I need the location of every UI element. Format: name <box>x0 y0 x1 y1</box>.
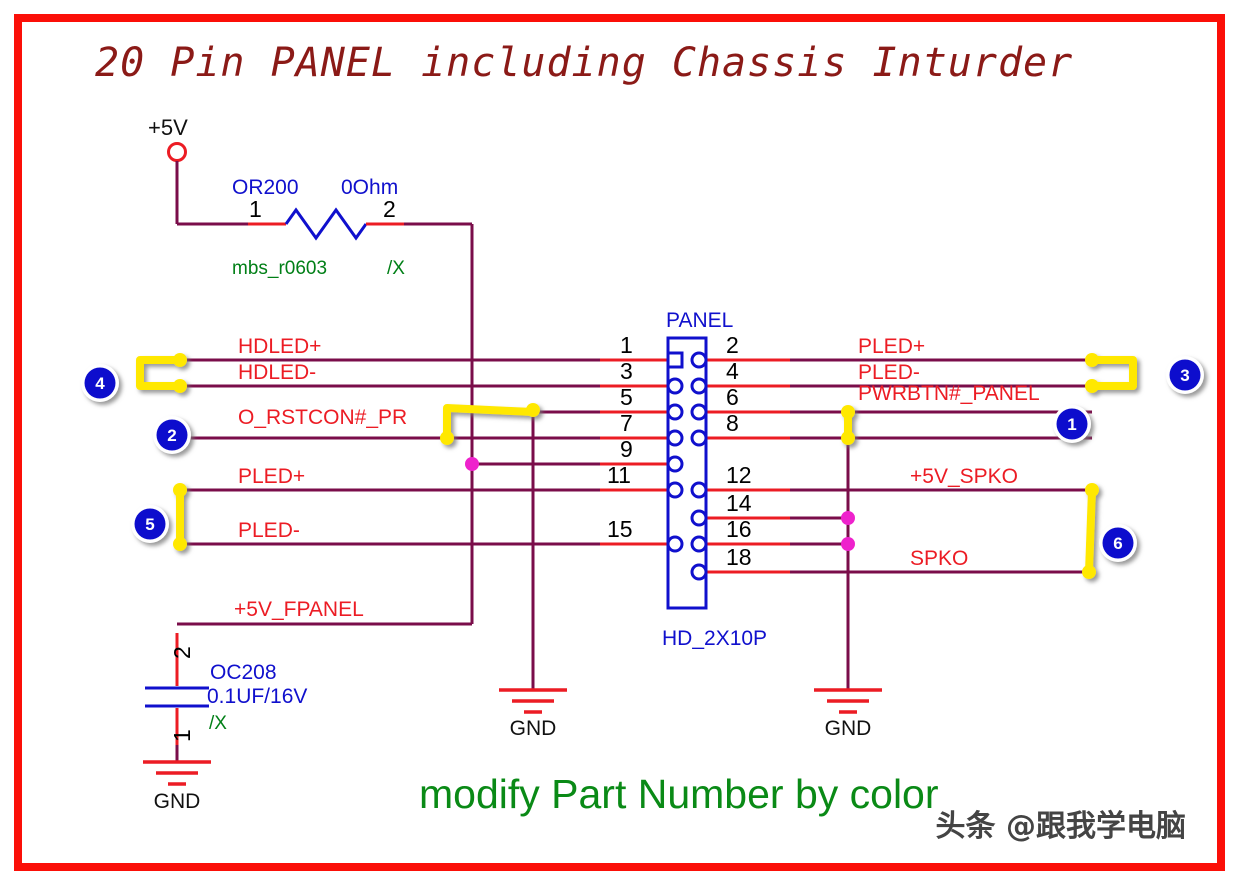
junction-dot-pin14 <box>841 511 855 525</box>
net-label-pled-plus-right: PLED+ <box>858 335 925 358</box>
marker-badge-4[interactable]: 4 <box>81 364 119 402</box>
highlight-dot-5a <box>173 483 187 497</box>
net-label-5v-spko: +5V_SPKO <box>910 465 1018 488</box>
highlight-bracket-3 <box>1085 353 1133 393</box>
junction-dot-pin9 <box>465 457 479 471</box>
marker-label-3: 3 <box>1180 366 1189 385</box>
capacitor-value: 0.1UF/16V <box>207 685 307 708</box>
resistor-designator: OR200 <box>232 176 299 199</box>
highlight-dot-1b <box>841 431 855 445</box>
gnd-cap-label: GND <box>154 790 201 813</box>
marker-badge-3[interactable]: 3 <box>1166 356 1204 394</box>
highlight-bracket-1 <box>841 405 855 445</box>
highlight-dot-6b <box>1082 565 1096 579</box>
net-label-pled-minus-left: PLED- <box>238 519 300 542</box>
connector-pinnum-5: 5 <box>620 384 633 410</box>
resistor-pin2-number: 2 <box>383 196 396 222</box>
highlight-bracket-4 <box>140 353 187 393</box>
marker-label-5: 5 <box>145 515 154 534</box>
highlight-dot-4a <box>173 353 187 367</box>
highlight-path-2 <box>447 408 533 438</box>
connector-pad-16 <box>692 537 706 551</box>
marker-label-6: 6 <box>1113 534 1122 553</box>
connector-pinnum-15: 15 <box>607 516 633 542</box>
connector-pinnum-9: 9 <box>620 436 633 462</box>
connector-pinnum-16: 16 <box>726 516 752 542</box>
connector-pad-11 <box>668 483 682 497</box>
marker-badge-2[interactable]: 2 <box>153 416 191 454</box>
connector-pad-6 <box>692 405 706 419</box>
resistor-variant: /X <box>387 258 405 279</box>
highlight-dot-1a <box>841 405 855 419</box>
net-label-pled-minus-right: PLED- <box>858 361 920 384</box>
highlight-dot-5b <box>173 537 187 551</box>
capacitor-pin2-number: 2 <box>169 646 195 659</box>
gnd-right-label: GND <box>825 717 872 740</box>
junction-dot-pin16 <box>841 537 855 551</box>
highlight-bracket-5 <box>173 483 187 551</box>
highlight-path-4 <box>140 360 180 386</box>
capacitor-pin1-number: 1 <box>169 729 195 742</box>
connector-pad-9 <box>668 457 682 471</box>
highlight-dot-6a <box>1085 483 1099 497</box>
highlight-dot-4b <box>173 379 187 393</box>
connector-pad-5 <box>668 405 682 419</box>
sheet-title: 20 Pin PANEL including Chassis Inturder <box>95 40 1073 86</box>
marker-label-4: 4 <box>95 374 105 393</box>
highlight-path-3 <box>1092 360 1133 386</box>
connector-pad-12 <box>692 483 706 497</box>
connector-designator: PANEL <box>666 309 733 332</box>
connector-pinnum-18: 18 <box>726 544 752 570</box>
connector-pinnum-3: 3 <box>620 358 633 384</box>
net-label-hdled-plus: HDLED+ <box>238 335 321 358</box>
connector-footprint: HD_2X10P <box>662 627 767 650</box>
connector-pad-15 <box>668 537 682 551</box>
connector-pinnum-12: 12 <box>726 462 752 488</box>
highlight-bracket-6 <box>1082 483 1099 579</box>
gnd-center-label: GND <box>510 717 557 740</box>
marker-badge-1[interactable]: 1 <box>1053 405 1091 443</box>
connector-pinnum-8: 8 <box>726 410 739 436</box>
connector-pinnum-14: 14 <box>726 490 752 516</box>
power-port-icon <box>169 144 186 161</box>
schematic-canvas: 20 Pin PANEL including Chassis Inturder … <box>0 0 1239 885</box>
connector-pad-3 <box>668 379 682 393</box>
highlight-dot-3b <box>1085 379 1099 393</box>
net-label-rstcon: O_RSTCON#_PR <box>238 406 407 429</box>
sheet-note: modify Part Number by color <box>419 771 939 817</box>
resistor-footprint: mbs_r0603 <box>232 258 327 279</box>
connector-pinnum-11: 11 <box>607 462 631 488</box>
marker-badge-6[interactable]: 6 <box>1099 524 1137 562</box>
connector-pinnum-1: 1 <box>620 332 633 358</box>
highlight-dot-2a <box>440 431 454 445</box>
resistor-pin1-number: 1 <box>249 196 262 222</box>
connector-pad-2 <box>692 353 706 367</box>
highlight-dot-2b <box>526 403 540 417</box>
marker-label-2: 2 <box>167 426 176 445</box>
connector-pad-18 <box>692 565 706 579</box>
net-label-hdled-minus: HDLED- <box>238 361 316 384</box>
marker-badge-5[interactable]: 5 <box>131 505 169 543</box>
power-port-label: +5V <box>148 115 188 140</box>
connector-pinnum-6: 6 <box>726 384 739 410</box>
net-label-pled-plus-left: PLED+ <box>238 465 305 488</box>
net-label-pwrbtn: PWRBTN#_PANEL <box>858 382 1040 405</box>
connector-pinnum-7: 7 <box>620 410 633 436</box>
connector-pinnum-4: 4 <box>726 358 739 384</box>
capacitor-designator: OC208 <box>210 661 277 684</box>
connector-pad-7 <box>668 431 682 445</box>
connector-pad-4 <box>692 379 706 393</box>
connector-pinnum-2: 2 <box>726 332 739 358</box>
highlight-dot-3a <box>1085 353 1099 367</box>
marker-label-1: 1 <box>1067 415 1076 434</box>
net-label-spko: SPKO <box>910 547 968 570</box>
connector-pad-8 <box>692 431 706 445</box>
connector-pad-1 <box>668 353 682 367</box>
resistor-body-icon <box>286 210 366 238</box>
watermark-text: 头条 @跟我学电脑 <box>936 809 1186 844</box>
schematic-page: 20 Pin PANEL including Chassis Inturder … <box>0 0 1239 885</box>
connector-pad-14 <box>692 511 706 525</box>
capacitor-variant: /X <box>209 713 227 734</box>
highlight-path-6 <box>1089 490 1092 572</box>
net-label-5v-fpanel: +5V_FPANEL <box>234 598 364 621</box>
